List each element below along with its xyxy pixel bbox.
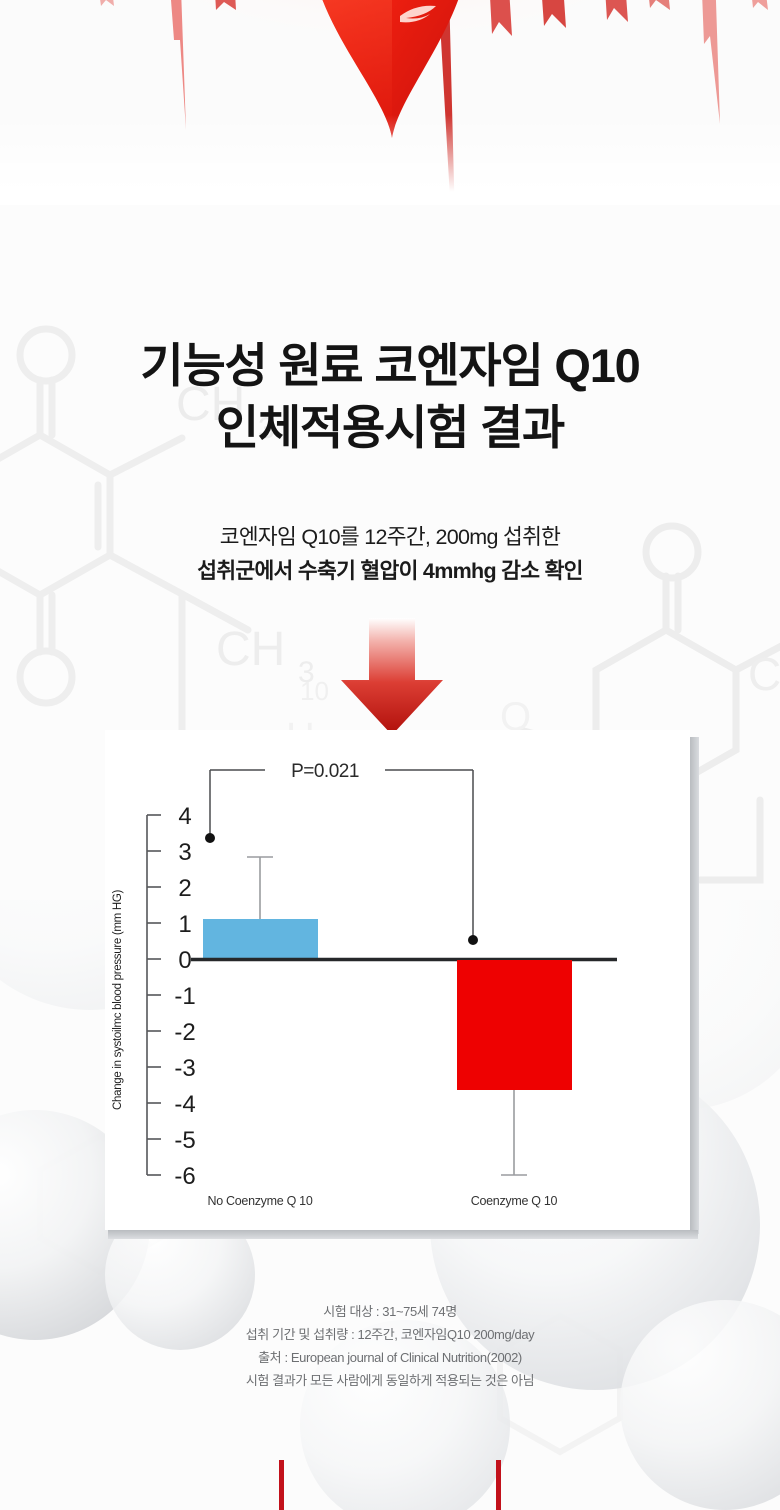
page-title: 기능성 원료 코엔자임 Q10 인체적용시험 결과 bbox=[0, 335, 780, 459]
subheading-line-1: 코엔자임 Q10를 12주간, 200mg 섭취한 bbox=[0, 520, 780, 554]
footnote-source: 출처 : European journal of Clinical Nutrit… bbox=[0, 1346, 780, 1369]
footnote-subjects: 시험 대상 : 31~75세 74명 bbox=[0, 1300, 780, 1323]
y-axis-title: Change in systoilmc blood pressure (mm H… bbox=[112, 889, 124, 1110]
svg-text:CH: CH bbox=[748, 648, 780, 700]
chart-card: 4 3 2 1 0 -1 -2 -3 -4 -5 -6 Change in sy… bbox=[105, 730, 690, 1230]
footer-accent-bar-right bbox=[496, 1460, 501, 1510]
headline-line-1: 기능성 원료 코엔자임 Q10 bbox=[0, 335, 780, 397]
y-tick-label: 4 bbox=[178, 803, 191, 830]
y-axis bbox=[147, 815, 161, 1175]
significance-bracket bbox=[210, 770, 473, 940]
error-bar-red bbox=[501, 1090, 527, 1175]
card-shadow-bottom bbox=[108, 1230, 698, 1239]
subheading: 코엔자임 Q10를 12주간, 200mg 섭취한 섭취군에서 수축기 혈압이 … bbox=[0, 520, 780, 588]
bracket-dot-left bbox=[205, 833, 215, 843]
y-tick-label: 1 bbox=[178, 911, 191, 938]
footnote-disclaimer: 시험 결과가 모든 사람에게 동일하게 적용되는 것은 아님 bbox=[0, 1369, 780, 1392]
footnote-dosage: 섭취 기간 및 섭취량 : 12주간, 코엔자임Q10 200mg/day bbox=[0, 1323, 780, 1346]
bar-no-coenzyme bbox=[203, 919, 318, 959]
x-tick-label: No Coenzyme Q 10 bbox=[208, 1194, 313, 1208]
y-tick-label: -2 bbox=[174, 1019, 195, 1046]
footnotes: 시험 대상 : 31~75세 74명 섭취 기간 및 섭취량 : 12주간, 코… bbox=[0, 1300, 780, 1392]
error-bar-blue bbox=[247, 857, 273, 920]
bracket-dot-right bbox=[468, 935, 478, 945]
page-root: CH 3 CH 3 10 H CH O bbox=[0, 0, 780, 1510]
y-tick-label: -4 bbox=[174, 1091, 195, 1118]
svg-text:CH: CH bbox=[216, 623, 285, 676]
bar-chart: 4 3 2 1 0 -1 -2 -3 -4 -5 -6 Change in sy… bbox=[105, 730, 690, 1230]
svg-text:10: 10 bbox=[300, 676, 329, 706]
down-arrow-icon bbox=[339, 618, 445, 736]
card-shadow-right bbox=[690, 737, 699, 1234]
y-tick-label: 3 bbox=[178, 839, 191, 866]
x-tick-label: Coenzyme Q 10 bbox=[471, 1194, 558, 1208]
y-tick-label: -6 bbox=[174, 1163, 195, 1190]
subheading-line-2: 섭취군에서 수축기 혈압이 4mmhg 감소 확인 bbox=[0, 554, 780, 588]
bar-coenzyme bbox=[457, 960, 572, 1090]
y-tick-label: -3 bbox=[174, 1055, 195, 1082]
y-tick-label: 0 bbox=[178, 947, 191, 974]
y-tick-label: 2 bbox=[178, 875, 191, 902]
footer-accent-bar-left bbox=[279, 1460, 284, 1510]
y-tick-labels: 4 3 2 1 0 -1 -2 -3 -4 -5 -6 bbox=[174, 803, 195, 1190]
hero-banner bbox=[0, 0, 780, 205]
y-tick-label: -1 bbox=[174, 983, 195, 1010]
p-value-annotation: P=0.021 bbox=[291, 761, 359, 782]
y-tick-label: -5 bbox=[174, 1127, 195, 1154]
headline-line-2: 인체적용시험 결과 bbox=[0, 397, 780, 459]
